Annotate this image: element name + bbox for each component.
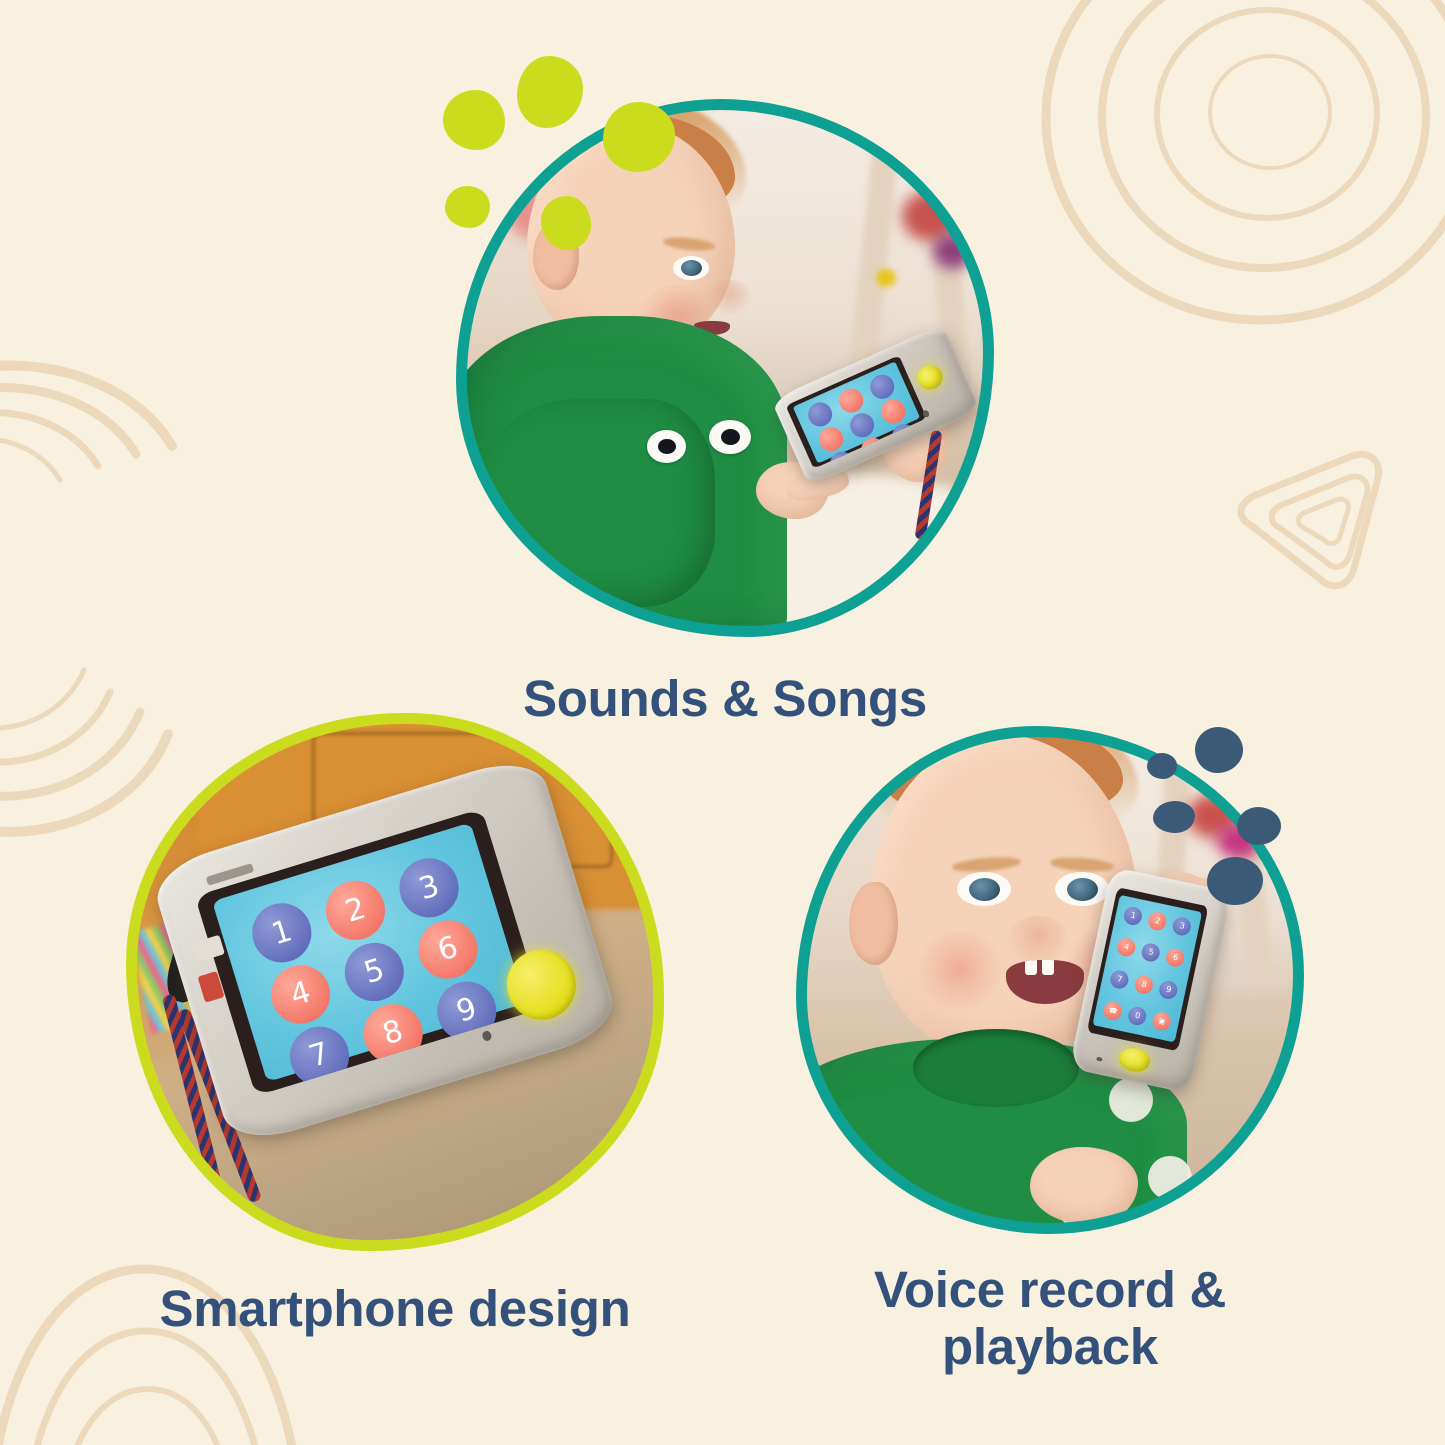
feature-caption-voice: Voice record & playback (874, 1261, 1226, 1375)
feature-card-smartphone: 1 2 3 4 5 6 7 8 9 ☎ 0 📷 (115, 722, 675, 1337)
feature-caption-smartphone: Smartphone design (160, 1280, 631, 1337)
feature-card-voice: 1 2 3 4 5 6 7 8 9 ☎ 0 ▣ (790, 735, 1310, 1375)
decor-triangle-spiral (1208, 440, 1423, 620)
infographic-page: Sounds & Songs (0, 0, 1445, 1445)
accent-dot-navy-1 (1147, 753, 1177, 779)
decor-concentric-rings (1055, 0, 1445, 322)
feature-caption-sounds: Sounds & Songs (523, 670, 927, 727)
toy-phone-keypad: 1 2 3 4 5 6 7 8 9 ☎ 0 📷 (211, 823, 524, 1082)
photo-sounds (465, 108, 985, 628)
photo-frame-sounds (465, 108, 985, 628)
accent-dot-lime-3 (445, 186, 490, 228)
photo-frame-smartphone: 1 2 3 4 5 6 7 8 9 ☎ 0 📷 (135, 722, 655, 1242)
feature-caption-voice-line1: Voice record & (874, 1261, 1226, 1318)
accent-dot-lime-4 (541, 196, 591, 250)
accent-dot-navy-4 (1237, 807, 1281, 845)
accent-dot-lime-1 (443, 90, 505, 150)
feature-caption-voice-line2: playback (942, 1318, 1158, 1375)
photo-smartphone: 1 2 3 4 5 6 7 8 9 ☎ 0 📷 (135, 722, 655, 1242)
feature-card-sounds: Sounds & Songs (425, 108, 1025, 727)
photo-frame-voice: 1 2 3 4 5 6 7 8 9 ☎ 0 ▣ (805, 735, 1295, 1225)
photo-voice: 1 2 3 4 5 6 7 8 9 ☎ 0 ▣ (805, 735, 1295, 1225)
accent-dot-navy-5 (1207, 857, 1263, 905)
accent-dot-navy-3 (1153, 801, 1195, 833)
